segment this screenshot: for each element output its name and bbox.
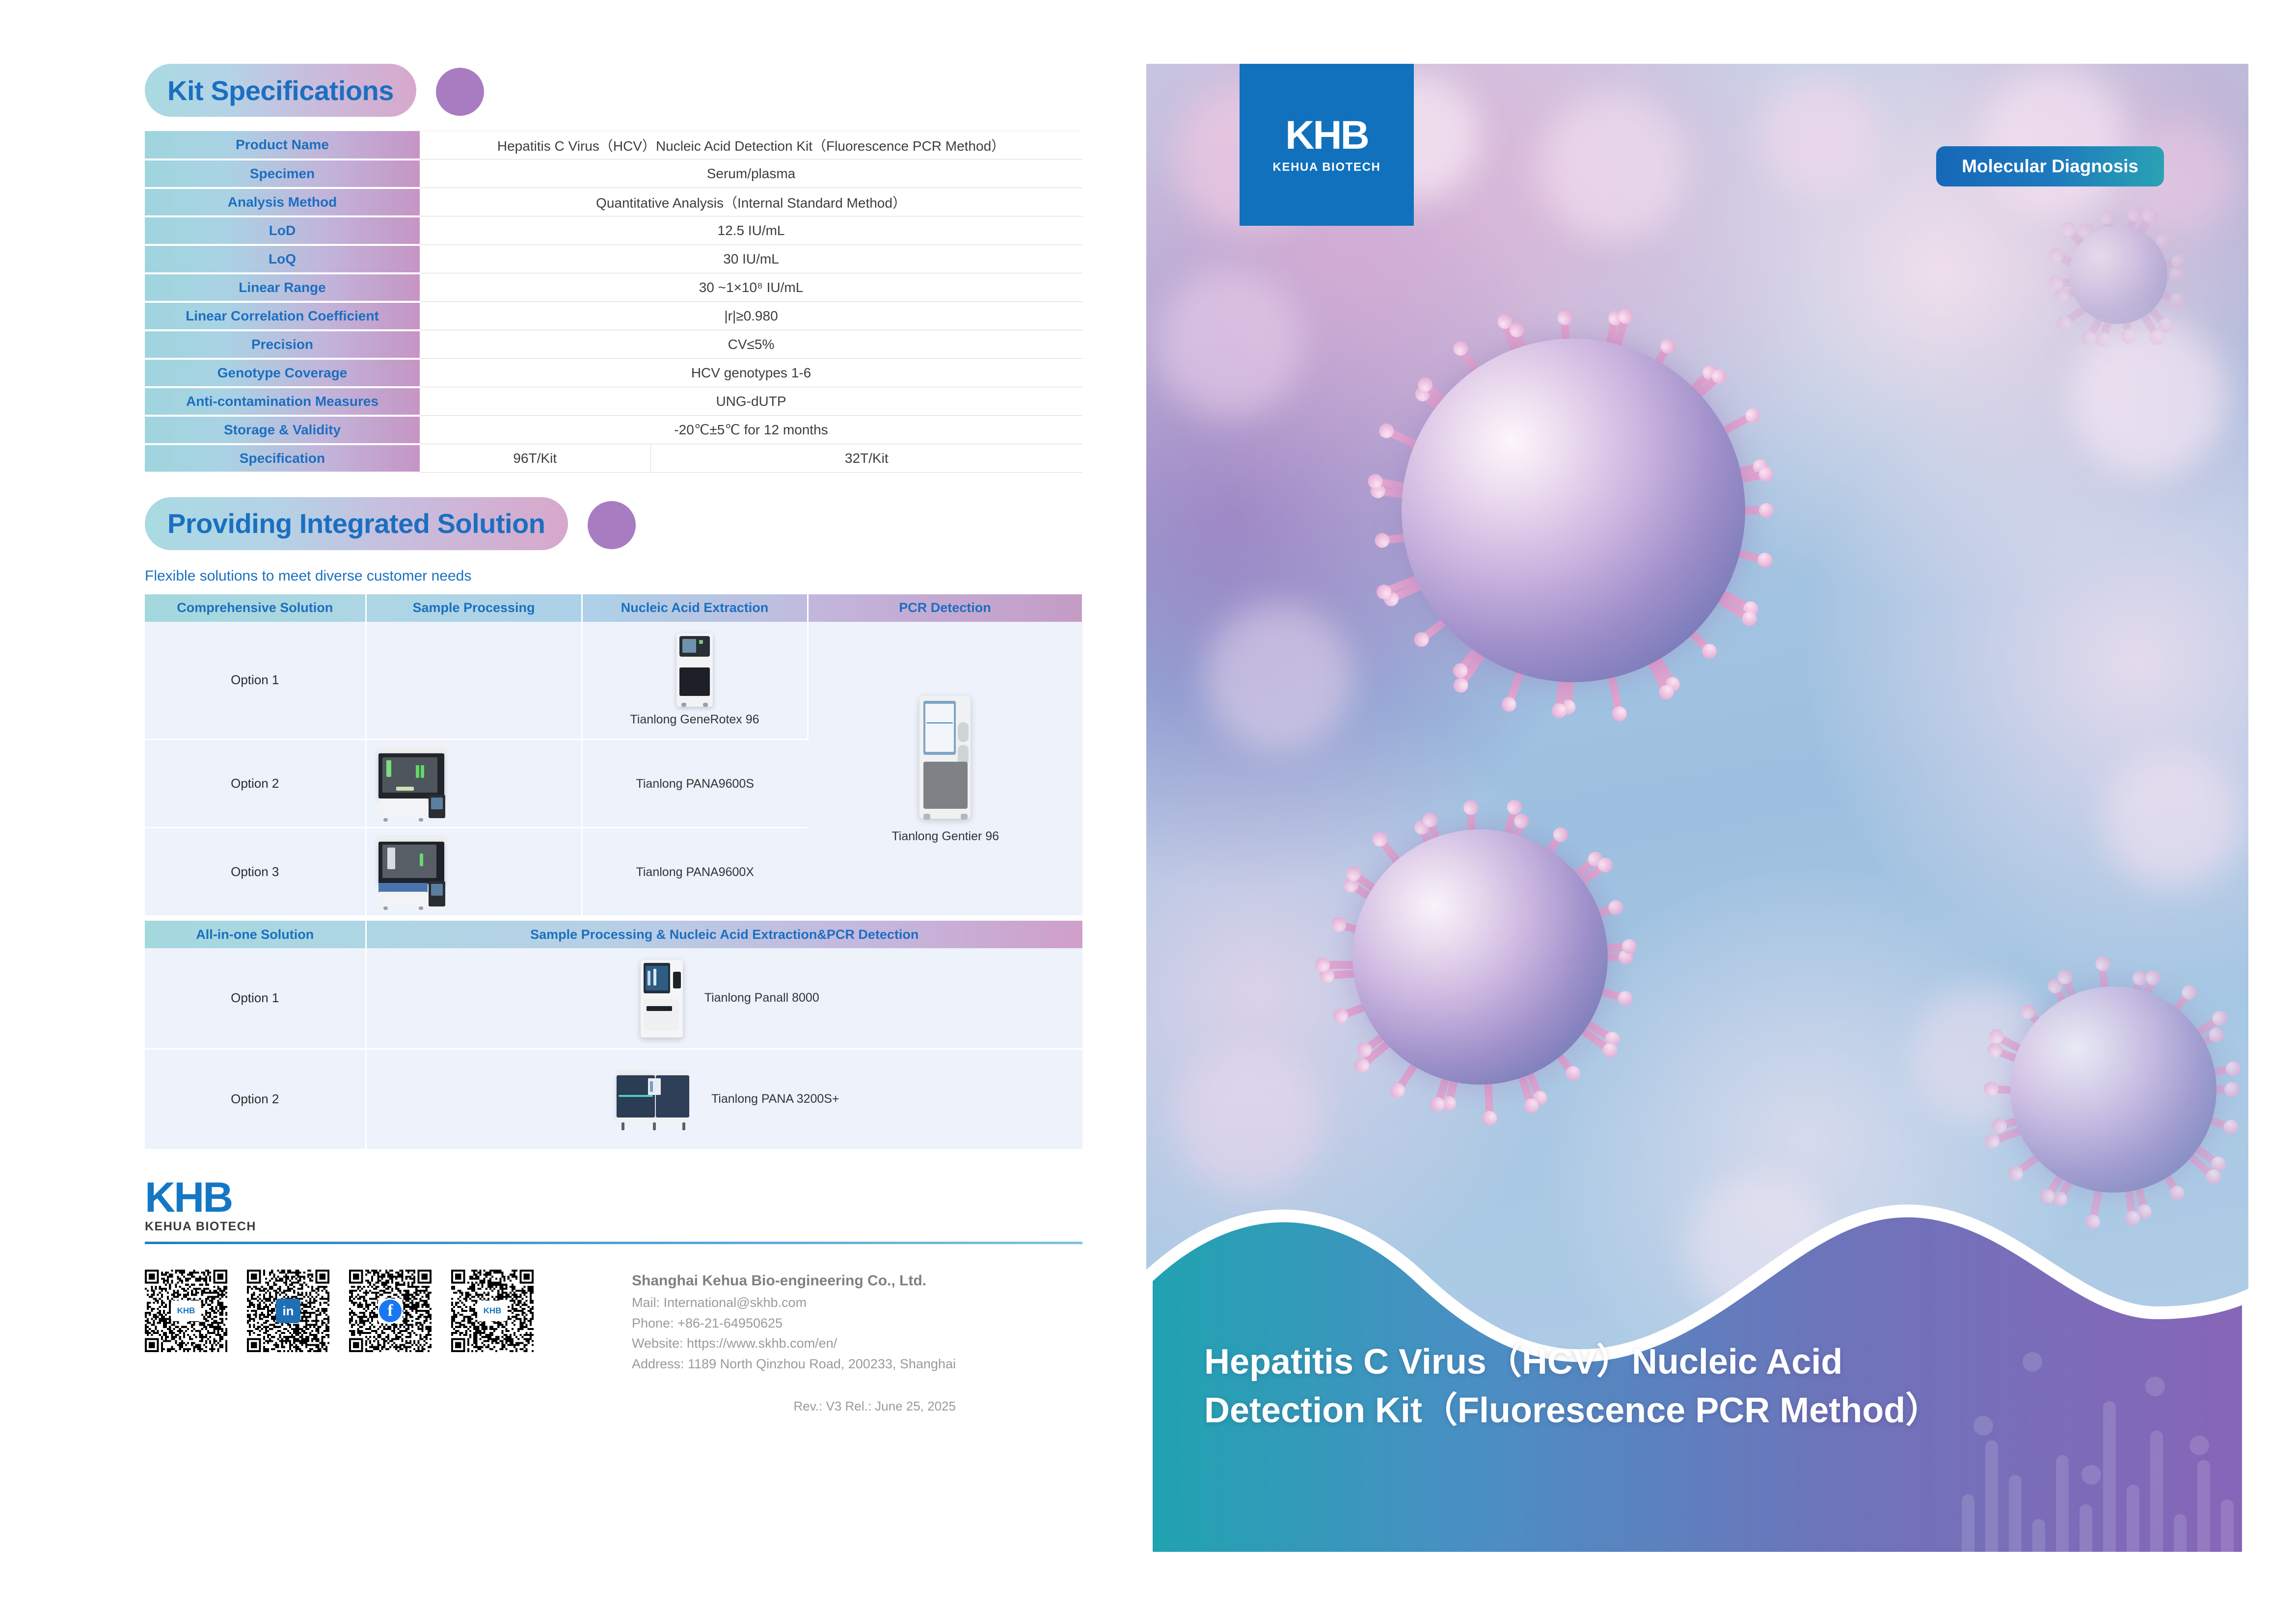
- spec-label: Product Name: [145, 131, 420, 160]
- device-part: [617, 1117, 689, 1122]
- device-part: [621, 1122, 624, 1130]
- virus-particle: [2069, 226, 2167, 324]
- spec-value: Quantitative Analysis（Internal Standard …: [420, 188, 1082, 216]
- device-part: [958, 722, 969, 742]
- spec-value: CV≤5%: [420, 330, 1082, 359]
- spec-label: Genotype Coverage: [145, 359, 420, 387]
- device-part: [378, 798, 428, 818]
- device-part: [673, 972, 681, 988]
- kit-specifications-title: Kit Specifications: [145, 75, 416, 106]
- table-row: LoQ30 IU/mL: [145, 245, 1082, 273]
- device-part: [923, 762, 968, 809]
- bokeh-circle: [1981, 69, 2128, 216]
- table-row: LoD12.5 IU/mL: [145, 216, 1082, 245]
- spec-label: Precision: [145, 330, 420, 359]
- nucleic-acid-extraction-cell: Tianlong GeneRotex 96: [582, 622, 808, 740]
- spec-label: Linear Range: [145, 273, 420, 302]
- col-all-in-one-solution: All-in-one Solution: [145, 921, 366, 948]
- qr-code-row: KHBinfKHB: [145, 1270, 534, 1416]
- device-cell: Tianlong PANA 3200S+: [366, 1049, 1082, 1149]
- facebook-icon: f: [378, 1299, 403, 1323]
- decorative-circle-icon: [436, 68, 484, 116]
- device-part: [419, 818, 423, 822]
- contact-mail: Mail: International@skhb.com: [632, 1293, 956, 1313]
- khb-logo-icon: KHB: [171, 1301, 201, 1321]
- device-part: [420, 853, 423, 866]
- device-part: [682, 639, 696, 653]
- contact-website[interactable]: Website: https://www.skhb.com/en/: [632, 1333, 956, 1354]
- table-row: Anti-contamination MeasuresUNG-dUTP: [145, 387, 1082, 416]
- kit-specifications-header: Kit Specifications: [145, 64, 1082, 123]
- table-row: Option 1 Tianlong GeneRotex 96 Tianlong …: [145, 622, 1082, 740]
- device-part: [386, 760, 391, 777]
- comprehensive-solution-table: Comprehensive Solution Sample Processing…: [145, 594, 1083, 917]
- generotex-96-device-image: [668, 633, 722, 707]
- device-part: [387, 848, 395, 869]
- cover-title-line-2: Detection Kit（Fluorescence PCR Method）: [1204, 1386, 2190, 1435]
- table-row: Product NameHepatitis C Virus（HCV）Nuclei…: [145, 131, 1082, 160]
- device-part: [681, 703, 686, 707]
- virus-particle: [1352, 829, 1608, 1085]
- col-combined-process: Sample Processing & Nucleic Acid Extract…: [366, 921, 1082, 948]
- cover-panel: KHB KEHUA BIOTECH Molecular Diagnosis He: [1146, 64, 2248, 1558]
- khb-website-qr[interactable]: KHB: [145, 1270, 227, 1352]
- footer-divider: [145, 1242, 1082, 1244]
- device-name: Tianlong Panall 8000: [704, 991, 819, 1005]
- cover-title: Hepatitis C Virus（HCV）Nucleic Acid Detec…: [1146, 1244, 2248, 1558]
- spec-label: Storage & Validity: [145, 416, 420, 444]
- spec-value: Hepatitis C Virus（HCV）Nucleic Acid Detec…: [420, 131, 1082, 160]
- device-part: [431, 884, 443, 896]
- sample-processing-cell: [366, 828, 582, 916]
- device-name: Tianlong PANA9600X: [636, 865, 754, 879]
- panall-8000-device-image: [630, 959, 694, 1038]
- sample-processing-cell: [366, 622, 582, 740]
- bokeh-circle: [2104, 751, 2241, 888]
- pana-3200s-device-image: [610, 1067, 701, 1131]
- device-part: [926, 722, 953, 723]
- spec-label: Specimen: [145, 160, 420, 188]
- integrated-solution-title: Providing Integrated Solution: [145, 507, 568, 539]
- device-part: [619, 1095, 653, 1097]
- bokeh-circle: [1156, 270, 1303, 417]
- kit-specifications-pill: Kit Specifications: [145, 64, 416, 117]
- gentier-96-device-image: [909, 693, 982, 821]
- integrated-solution-pill: Providing Integrated Solution: [145, 497, 568, 550]
- device-part: [644, 999, 679, 1031]
- device-name: Tianlong PANA9600S: [636, 777, 754, 791]
- spec-value: Serum/plasma: [420, 160, 1082, 188]
- khb-logo-mark: KHB: [1285, 115, 1368, 156]
- molecular-diagnosis-badge: Molecular Diagnosis: [1936, 146, 2164, 186]
- table-row: Linear Correlation Coefficient|r|≥0.980: [145, 302, 1082, 330]
- device-part: [378, 883, 428, 893]
- contact-address: Address: 1189 North Qinzhou Road, 200233…: [632, 1354, 956, 1375]
- page-footer: KHB KEHUA BIOTECH KHBinfKHB Shanghai Keh…: [145, 1178, 1082, 1416]
- spec-value: UNG-dUTP: [420, 387, 1082, 416]
- spec-value: 30 IU/mL: [420, 245, 1082, 273]
- brochure-page: Kit Specifications Product NameHepatitis…: [0, 0, 2296, 1623]
- table-row: Linear Range30 ~1×10⁸ IU/mL: [145, 273, 1082, 302]
- linkedin-qr[interactable]: in: [247, 1270, 329, 1352]
- col-nucleic-acid-extraction: Nucleic Acid Extraction: [582, 594, 808, 622]
- all-in-one-solution-table: All-in-one Solution Sample Processing & …: [145, 921, 1082, 1150]
- device-part: [647, 1006, 672, 1011]
- virus-particle: [1402, 339, 1745, 682]
- device-name: Tianlong Gentier 96: [891, 829, 999, 844]
- device-name: Tianlong PANA 3200S+: [711, 1092, 839, 1106]
- device-part: [703, 703, 708, 707]
- khb-logo-subtitle: KEHUA BIOTECH: [145, 1220, 1082, 1234]
- pana9600s-device-image: [372, 745, 460, 822]
- virus-core: [1352, 829, 1608, 1085]
- bokeh-circle: [1760, 79, 1878, 196]
- spec-value: 32T/Kit: [650, 444, 1082, 473]
- device-part: [650, 1081, 653, 1092]
- virus-particle: [2010, 986, 2216, 1193]
- spec-label: Anti-contamination Measures: [145, 387, 420, 416]
- device-part: [682, 1122, 685, 1130]
- device-part: [416, 765, 419, 778]
- table-row: Option 1 Tianlong Panall 8000: [145, 948, 1082, 1049]
- table-row: Analysis MethodQuantitative Analysis（Int…: [145, 188, 1082, 216]
- device-part: [925, 704, 954, 752]
- spec-label: LoQ: [145, 245, 420, 273]
- table-row: Storage & Validity-20℃±5℃ for 12 months: [145, 416, 1082, 444]
- table-row: Option 2 Tianlong PANA 3200S+: [145, 1049, 1082, 1149]
- spec-value: 12.5 IU/mL: [420, 216, 1082, 245]
- pcr-detection-cell: Tianlong Gentier 96: [808, 622, 1082, 916]
- option-label: Option 1: [145, 622, 366, 740]
- device-part: [653, 1122, 656, 1130]
- khb-logo-subtitle: KEHUA BIOTECH: [1273, 160, 1381, 174]
- company-name: Shanghai Kehua Bio-engineering Co., Ltd.: [632, 1270, 956, 1293]
- spec-value: HCV genotypes 1-6: [420, 359, 1082, 387]
- spec-value: 30 ~1×10⁸ IU/mL: [420, 273, 1082, 302]
- device-part: [923, 814, 930, 820]
- device-part: [383, 906, 388, 910]
- device-part: [679, 667, 710, 696]
- option-label: Option 3: [145, 828, 366, 916]
- option-label: Option 2: [145, 1049, 366, 1149]
- col-comprehensive-solution: Comprehensive Solution: [145, 594, 366, 622]
- virus-core: [2010, 986, 2216, 1193]
- contact-info: Shanghai Kehua Bio-engineering Co., Ltd.…: [632, 1270, 956, 1416]
- device-part: [656, 1075, 689, 1117]
- khb-logo-icon: KHB: [477, 1301, 508, 1321]
- device-part: [699, 640, 703, 644]
- spec-value: |r|≥0.980: [420, 302, 1082, 330]
- device-name: Tianlong GeneRotex 96: [630, 713, 759, 727]
- table-header-row: Comprehensive Solution Sample Processing…: [145, 594, 1082, 622]
- table-header-row: All-in-one Solution Sample Processing & …: [145, 921, 1082, 948]
- cover-khb-logo: KHB KEHUA BIOTECH: [1240, 64, 1414, 226]
- device-part: [419, 906, 423, 910]
- device-part: [961, 814, 968, 820]
- option-label: Option 1: [145, 948, 366, 1049]
- device-cell: Tianlong Panall 8000: [366, 948, 1082, 1049]
- spec-label: Specification: [145, 444, 420, 473]
- spec-value: -20℃±5℃ for 12 months: [420, 416, 1082, 444]
- device-part: [383, 818, 388, 822]
- virus-core: [1402, 339, 1745, 682]
- col-pcr-detection: PCR Detection: [808, 594, 1082, 622]
- device-part: [431, 798, 443, 809]
- table-row: PrecisionCV≤5%: [145, 330, 1082, 359]
- spec-label: Linear Correlation Coefficient: [145, 302, 420, 330]
- bokeh-circle: [1539, 93, 1686, 240]
- option-label: Option 2: [145, 740, 366, 828]
- kit-specifications-table: Product NameHepatitis C Virus（HCV）Nuclei…: [145, 131, 1082, 474]
- revision-info: Rev.: V3 Rel.: June 25, 2025: [632, 1396, 956, 1416]
- khb-wechat-qr[interactable]: KHB: [451, 1270, 534, 1352]
- decorative-circle-icon: [588, 501, 636, 549]
- cover-title-line-1: Hepatitis C Virus（HCV）Nucleic Acid: [1204, 1338, 2190, 1386]
- pana9600x-device-image: [372, 834, 460, 910]
- nucleic-acid-extraction-cell: Tianlong PANA9600X: [582, 828, 808, 916]
- integrated-solution-subtitle: Flexible solutions to meet diverse custo…: [145, 568, 1082, 585]
- left-content-column: Kit Specifications Product NameHepatitis…: [145, 64, 1082, 1561]
- khb-logo-mark: KHB: [145, 1178, 1082, 1218]
- device-part: [378, 892, 428, 906]
- sample-processing-cell: [366, 740, 582, 828]
- spec-label: Analysis Method: [145, 188, 420, 216]
- device-part: [616, 1069, 655, 1075]
- bokeh-circle: [1205, 604, 1352, 751]
- table-row: SpecimenSerum/plasma: [145, 160, 1082, 188]
- spec-label: LoD: [145, 216, 420, 245]
- linkedin-icon: in: [276, 1299, 300, 1323]
- device-part: [653, 969, 656, 985]
- device-part: [648, 971, 650, 985]
- integrated-solution-header: Providing Integrated Solution: [145, 497, 1082, 556]
- device-part: [421, 765, 424, 778]
- col-sample-processing: Sample Processing: [366, 594, 582, 622]
- virus-core: [2069, 226, 2167, 324]
- table-row: Specification96T/Kit32T/Kit: [145, 444, 1082, 473]
- contact-phone: Phone: +86-21-64950625: [632, 1313, 956, 1334]
- table-row: Genotype CoverageHCV genotypes 1-6: [145, 359, 1082, 387]
- nucleic-acid-extraction-cell: Tianlong PANA9600S: [582, 740, 808, 828]
- device-part: [396, 787, 414, 791]
- spec-value: 96T/Kit: [420, 444, 650, 473]
- facebook-qr[interactable]: f: [349, 1270, 432, 1352]
